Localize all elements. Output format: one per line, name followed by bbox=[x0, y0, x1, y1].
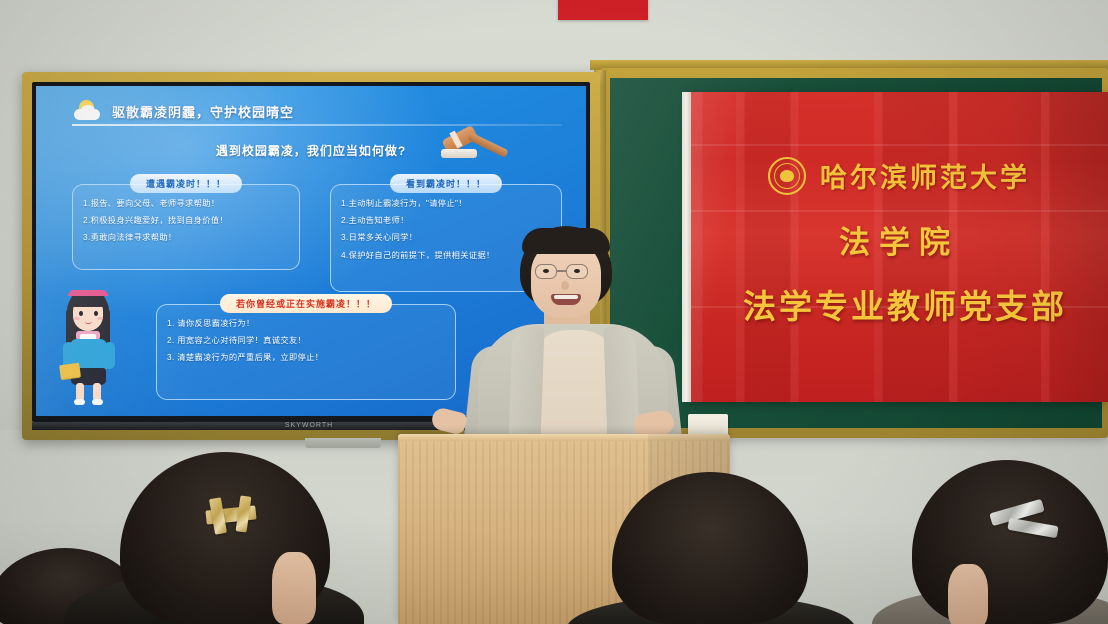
slide-panel-item: 3.勇敢向法律寻求帮助！ bbox=[83, 234, 291, 242]
slide-panel-header-alert: 若你曾经或正在实施霸凌！！！ bbox=[220, 294, 392, 313]
teacher-eye-left bbox=[543, 269, 549, 273]
red-banner: 哈尔滨师范大学 法学院 法学专业教师党支部 bbox=[690, 92, 1108, 402]
banner-crease bbox=[690, 144, 1108, 146]
slide-panel-perpetrator: 若你曾经或正在实施霸凌！！！ 1. 请你反思霸凌行为！ 2. 用宽容之心对待同学… bbox=[156, 304, 456, 400]
teacher-fringe bbox=[522, 228, 610, 254]
slide-panel-list: 1. 请你反思霸凌行为！ 2. 用宽容之心对待同学！真诚交友！ 3. 清楚霸凌行… bbox=[167, 320, 447, 372]
character-eye-left bbox=[79, 311, 83, 316]
audience-student-right bbox=[912, 460, 1108, 624]
university-seal-icon bbox=[768, 157, 806, 195]
character-shoe-left bbox=[74, 399, 85, 405]
slide-panel-item: 2.积极投身兴趣爱好，找到自身价值！ bbox=[83, 217, 291, 225]
classroom-scene: 哈尔滨师范大学 法学院 法学专业教师党支部 SKYWORTH 驱散霸凌阴霾，守护… bbox=[0, 0, 1108, 624]
teacher-nose bbox=[561, 281, 569, 290]
student-neck bbox=[272, 552, 316, 624]
slide-panel-encountering-bullying: 遭遇霸凌时！！！ 1.报告、要向父母、老师寻求帮助！ 2.积极投身兴趣爱好，找到… bbox=[72, 184, 300, 270]
university-seal-core bbox=[780, 170, 794, 182]
slide-panel-header: 遭遇霸凌时！！！ bbox=[130, 174, 242, 193]
banner-university-name: 哈尔滨师范大学 bbox=[820, 156, 1030, 195]
character-eye-right bbox=[94, 311, 98, 316]
character-book bbox=[59, 363, 81, 380]
audience-student-left bbox=[120, 452, 330, 624]
display-screen-brand: SKYWORTH bbox=[274, 421, 344, 430]
character-headband bbox=[68, 290, 108, 296]
slide-title-row: 驱散霸凌阴霾，守护校园晴空 bbox=[74, 100, 294, 122]
slide-title: 驱散霸凌阴霾，守护校园晴空 bbox=[112, 102, 294, 121]
slide-panel-item: 1.报告、要向父母、老师寻求帮助！ bbox=[83, 200, 291, 208]
cloud-sun-icon bbox=[74, 100, 104, 122]
character-blush-right bbox=[97, 317, 103, 320]
slide-panel-list: 1.报告、要向父母、老师寻求帮助！ 2.积极投身兴趣爱好，找到自身价值！ 3.勇… bbox=[83, 200, 291, 252]
character-shoe-right bbox=[92, 399, 103, 405]
banner-university-row: 哈尔滨师范大学 bbox=[690, 156, 1108, 195]
character-blush-left bbox=[74, 317, 80, 320]
slide-panel-item: 1. 请你反思霸凌行为！ bbox=[167, 320, 447, 328]
banner-crease bbox=[690, 210, 1108, 212]
wall-red-poster bbox=[558, 0, 648, 20]
student-neck bbox=[948, 564, 988, 624]
student-hair bbox=[612, 472, 808, 624]
audience-student-mid bbox=[612, 472, 808, 624]
gavel-icon bbox=[441, 122, 515, 168]
slide-panel-header: 看到霸凌时！！！ bbox=[390, 174, 502, 193]
schoolgirl-character bbox=[54, 282, 124, 410]
cloud-shape-puff bbox=[81, 105, 95, 116]
display-screen-stand bbox=[305, 438, 381, 448]
student-hair bbox=[912, 460, 1108, 624]
slide-panel-item: 1.主动制止霸凌行为，"请停止"！ bbox=[341, 200, 553, 208]
slide-panel-item: 2. 用宽容之心对待同学！真诚交友！ bbox=[167, 337, 447, 345]
banner-party-branch-name: 法学专业教师党支部 bbox=[696, 280, 1108, 328]
glasses-bridge bbox=[557, 270, 566, 272]
slide-panel-item: 3. 清楚霸凌行为的严重后果，立即停止！ bbox=[167, 354, 447, 362]
slide-panel-item: 2.主动告知老师！ bbox=[341, 217, 553, 225]
teacher-eye-right bbox=[574, 269, 580, 273]
banner-faculty-name: 法学院 bbox=[690, 217, 1108, 262]
teacher-mouth bbox=[551, 294, 581, 305]
gavel-sound-block bbox=[441, 149, 477, 158]
teacher-presenter bbox=[448, 226, 698, 466]
